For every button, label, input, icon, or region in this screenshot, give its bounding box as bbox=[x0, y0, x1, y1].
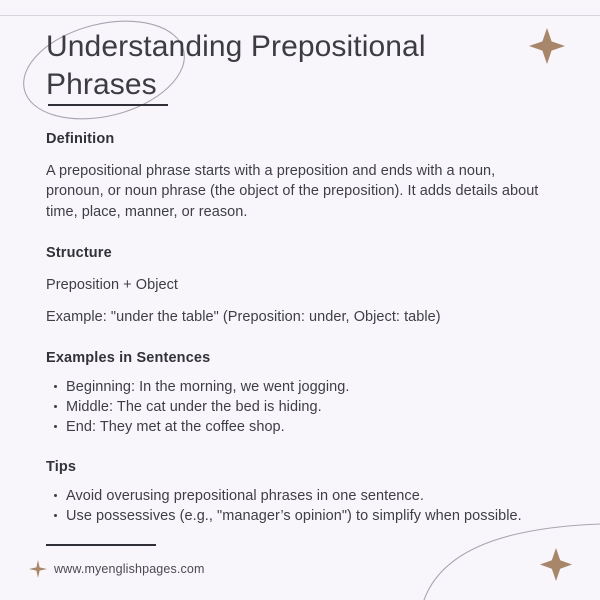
section-heading: Definition bbox=[46, 131, 556, 147]
sparkle-footer-icon bbox=[27, 558, 49, 580]
section-structure: Structure Preposition + Object Example: … bbox=[46, 245, 556, 328]
footer: www.myenglishpages.com bbox=[0, 536, 600, 600]
infographic-card: Understanding Prepositional Phrases Defi… bbox=[0, 0, 600, 600]
page-title: Understanding Prepositional Phrases bbox=[46, 28, 476, 105]
section-paragraph: Example: "under the table" (Preposition:… bbox=[46, 307, 556, 328]
footer-url[interactable]: www.myenglishpages.com bbox=[54, 562, 205, 576]
examples-list: Beginning: In the morning, we went joggi… bbox=[46, 377, 556, 437]
list-item: Beginning: In the morning, we went joggi… bbox=[46, 377, 556, 397]
list-item: Use possessives (e.g., "manager’s opinio… bbox=[46, 506, 556, 526]
section-definition: Definition A prepositional phrase starts… bbox=[46, 131, 556, 223]
list-item: Middle: The cat under the bed is hiding. bbox=[46, 397, 556, 417]
section-heading: Tips bbox=[46, 459, 556, 475]
footer-rule bbox=[46, 544, 156, 546]
content-area: Understanding Prepositional Phrases Defi… bbox=[0, 0, 600, 600]
tips-list: Avoid overusing prepositional phrases in… bbox=[46, 486, 556, 526]
list-item: End: They met at the coffee shop. bbox=[46, 417, 556, 437]
section-paragraph: Preposition + Object bbox=[46, 275, 556, 296]
section-examples: Examples in Sentences Beginning: In the … bbox=[46, 350, 556, 437]
section-paragraph: A prepositional phrase starts with a pre… bbox=[46, 161, 556, 223]
section-heading: Structure bbox=[46, 245, 556, 261]
footer-row: www.myenglishpages.com bbox=[27, 558, 205, 580]
title-underline bbox=[48, 104, 168, 106]
list-item: Avoid overusing prepositional phrases in… bbox=[46, 486, 556, 506]
section-tips: Tips Avoid overusing prepositional phras… bbox=[46, 459, 556, 526]
section-heading: Examples in Sentences bbox=[46, 350, 556, 366]
